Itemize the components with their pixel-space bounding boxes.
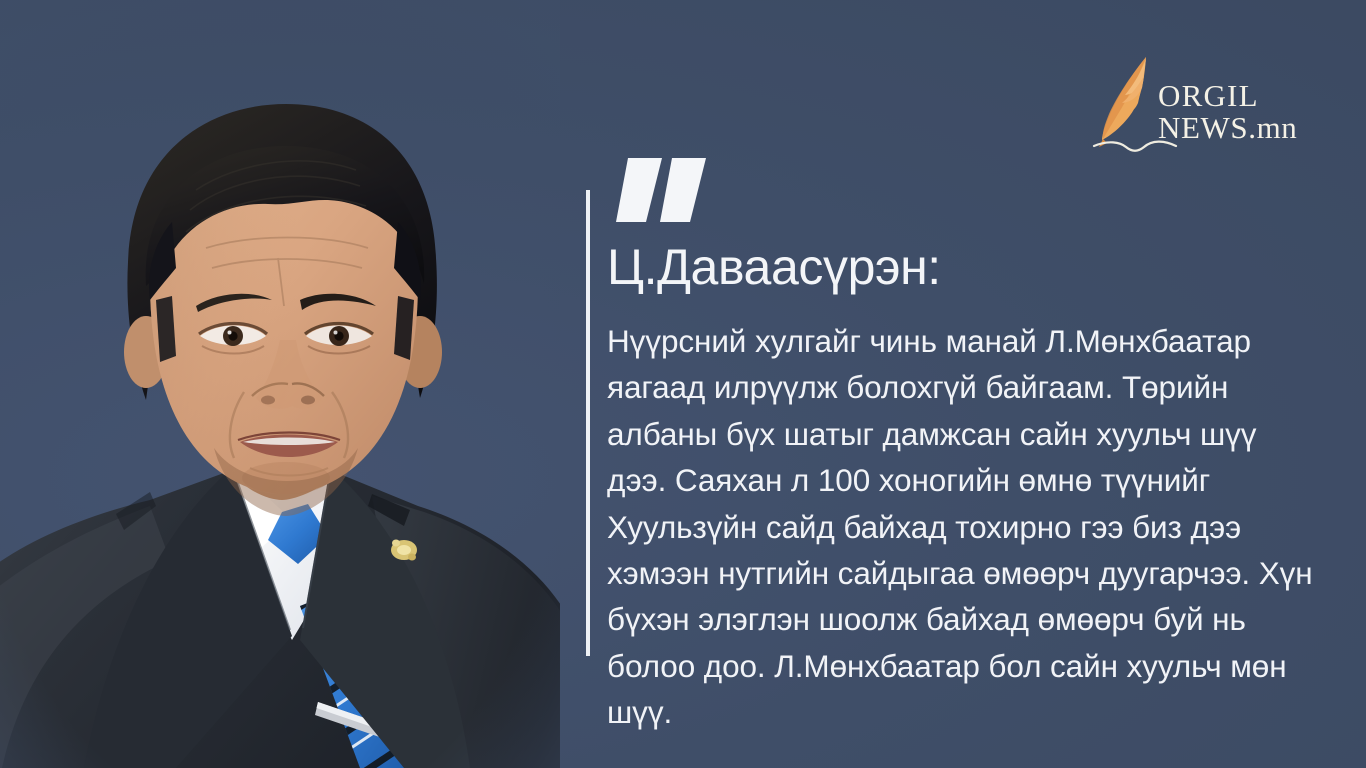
quote-card: ORGIL NEWS.mn Ц.Даваасүрэн: Нүүрсний хул… [0,0,1366,768]
brand-name-line1: ORGIL [1158,78,1259,113]
accent-rule [586,190,590,656]
brand-name-line2: NEWS.mn [1158,110,1297,145]
speaker-name: Ц.Даваасүрэн: [607,240,941,294]
quill-feather-icon [1099,57,1146,147]
portrait-illustration [0,0,560,768]
quotation-mark-icon [616,158,726,234]
portrait [0,0,560,768]
brand-logo[interactable]: ORGIL NEWS.mn [1080,50,1310,158]
quote-text: Нүүрсний хулгайг чинь манай Л.Мөнхбаатар… [607,318,1319,736]
